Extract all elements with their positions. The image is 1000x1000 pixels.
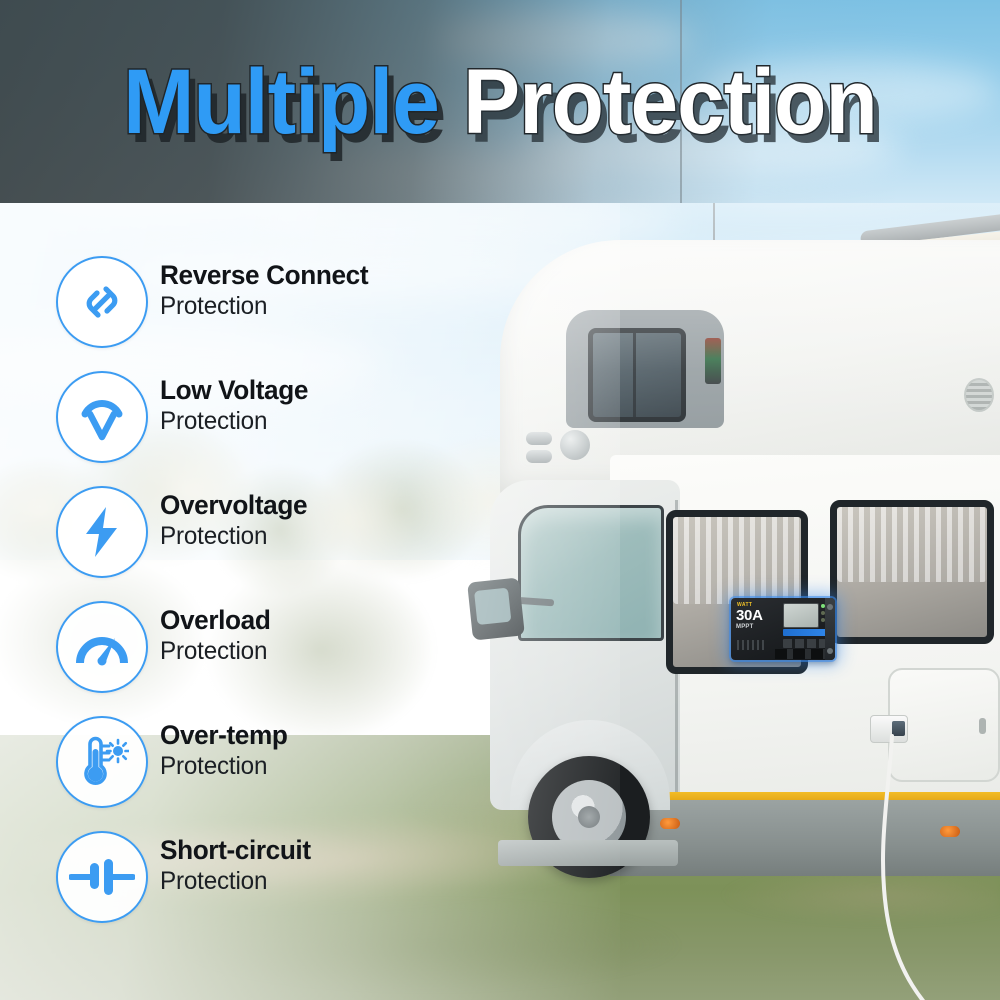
feature-item: Low Voltage Protection (56, 367, 486, 482)
voltage-v-arc-icon-circle (56, 371, 148, 463)
antenna-base (705, 338, 721, 384)
controller-amperage: 30A (736, 608, 763, 623)
feature-subtitle: Protection (160, 636, 270, 666)
feature-title: Low Voltage (160, 375, 308, 406)
lightning-bolt-icon (80, 505, 124, 559)
feature-item: Overvoltage Protection (56, 482, 486, 597)
circuit-break-icon (69, 855, 135, 899)
feature-item: Overload Protection (56, 597, 486, 712)
feature-title: Overvoltage (160, 490, 307, 521)
voltage-v-arc-icon (76, 392, 128, 442)
curtain (837, 507, 987, 582)
feature-text: Over-temp Protection (160, 720, 291, 781)
thermometer-sun-icon (75, 736, 129, 788)
title-word-protection: Protection (463, 56, 877, 148)
feature-item: Over-temp Protection (56, 712, 486, 827)
feature-list: Reverse Connect Protection Low Voltage P… (56, 252, 486, 942)
bumper (498, 840, 678, 866)
page-title: Multiple Protection (35, 0, 965, 203)
feature-text: Reverse Connect Protection (160, 260, 375, 321)
chain-link-icon (77, 277, 127, 327)
cab-windshield (518, 505, 664, 641)
feature-subtitle: Protection (160, 406, 308, 436)
feature-subtitle: Protection (160, 866, 311, 896)
header-band: Multiple Protection (0, 0, 1000, 203)
feature-title: Over-temp (160, 720, 288, 751)
chain-link-icon-circle (56, 256, 148, 348)
title-word-multiple: Multiple (123, 56, 439, 148)
curtain (673, 517, 801, 604)
side-marker-light (660, 818, 680, 829)
controller-buttons (783, 639, 829, 648)
feature-item: Short-circuit Protection (56, 827, 486, 942)
controller-display-bar (783, 629, 827, 636)
controller-heatsink (825, 598, 835, 660)
thermometer-sun-icon-circle (56, 716, 148, 808)
cab-lights (526, 432, 602, 466)
gauge-speedometer-icon (75, 625, 129, 669)
solar-charge-controller: WATT 30A MPPT (731, 598, 835, 660)
lightning-bolt-icon-circle (56, 486, 148, 578)
overcab-window (588, 328, 686, 422)
rv-motorhome (470, 200, 1000, 880)
feature-text: Low Voltage Protection (160, 375, 313, 436)
feature-subtitle: Protection (160, 751, 288, 781)
controller-lcd-screen (783, 603, 819, 628)
controller-terminal-ports (775, 649, 829, 659)
feature-title: Short-circuit (160, 835, 311, 866)
feature-text: Overvoltage Protection (160, 490, 312, 551)
feature-text: Overload Protection (160, 605, 274, 666)
feature-item: Reverse Connect Protection (56, 252, 486, 367)
promo-image: WATT 30A MPPT Multiple Protection (0, 0, 1000, 1000)
controller-label-text (737, 640, 767, 650)
side-window-rear (830, 500, 994, 644)
gauge-speedometer-icon-circle (56, 601, 148, 693)
feature-title: Reverse Connect (160, 260, 368, 291)
controller-type: MPPT (736, 624, 753, 630)
feature-text: Short-circuit Protection (160, 835, 315, 896)
feature-subtitle: Protection (160, 291, 368, 321)
feature-title: Overload (160, 605, 270, 636)
power-cable (770, 728, 1000, 1000)
vent-grille (964, 378, 994, 412)
feature-subtitle: Protection (160, 521, 307, 551)
circuit-break-icon-circle (56, 831, 148, 923)
